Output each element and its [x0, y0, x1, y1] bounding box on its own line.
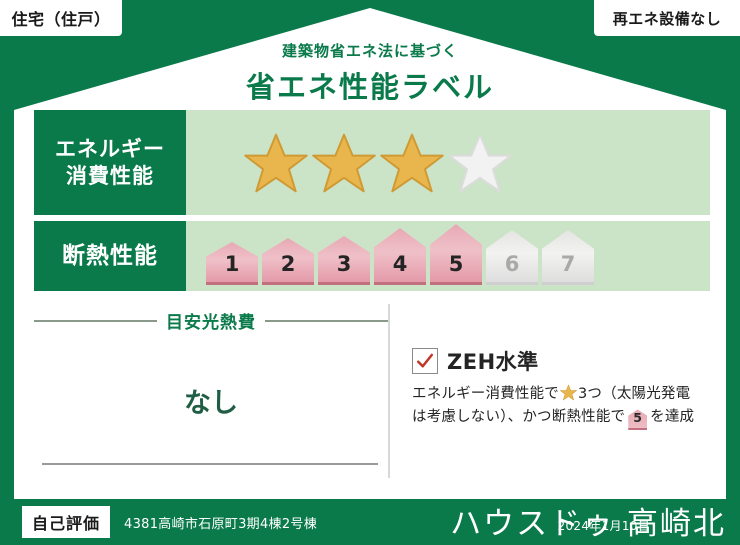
- building-type-label: 住宅（住戸）: [11, 6, 110, 30]
- estimated-utility-cost-panel: 目安光熱費 なし: [34, 300, 388, 490]
- renewable-energy-label: 再エネ設備なし: [613, 8, 722, 29]
- star-icon-empty: [448, 132, 512, 194]
- ratings-section: エネルギー 消費性能 断熱性能 1234567: [34, 110, 710, 297]
- insulation-grade-5: 5: [430, 224, 482, 285]
- energy-performance-row: エネルギー 消費性能: [34, 110, 710, 215]
- star-icon-filled: [244, 132, 308, 194]
- utility-cost-value: なし: [34, 381, 388, 420]
- star-icon-filled: [380, 132, 444, 194]
- insulation-grade-7: 7: [542, 230, 594, 285]
- heading-rule-left: [34, 320, 157, 322]
- property-address: 4381高崎市石原町3期4棟2号棟: [124, 513, 317, 532]
- insulation-grade-1: 1: [206, 242, 258, 285]
- insulation-rating-value: 1234567: [186, 221, 710, 291]
- building-type-badge: 住宅（住戸）: [0, 0, 122, 36]
- zeh-title: ZEH水準: [447, 346, 539, 376]
- zeh-panel: ZEH水準 エネルギー消費性能で 3つ（太陽光発電は考慮しない）、かつ断熱性能で…: [390, 300, 710, 490]
- zeh-desc-part2: は考慮しない）、かつ断熱性能で: [412, 409, 625, 425]
- star-icon: [560, 384, 577, 401]
- inline-grade-badge: 5: [628, 409, 647, 430]
- lower-section: 目安光熱費 なし ZEH水準 エネルギー消費性能で 3つ（太陽光発電は考慮しない…: [34, 300, 710, 490]
- agency-watermark: ハウスドゥ 高崎北: [450, 498, 726, 543]
- zeh-heading: ZEH水準: [412, 346, 710, 376]
- title-subtitle: 建築物省エネ法に基づく: [0, 40, 740, 61]
- zeh-description: エネルギー消費性能で 3つ（太陽光発電は考慮しない）、かつ断熱性能で5を達成: [412, 383, 710, 430]
- insulation-label-text: 断熱性能: [62, 242, 158, 271]
- insulation-grade-strip: 1234567: [206, 224, 594, 291]
- insulation-grade-6: 6: [486, 230, 538, 285]
- energy-star-rating: [186, 110, 710, 215]
- utility-cost-bottom-rule: [42, 463, 378, 465]
- insulation-grade-2: 2: [262, 238, 314, 285]
- insulation-performance-row: 断熱性能 1234567: [34, 221, 710, 291]
- energy-performance-label: エネルギー 消費性能: [34, 110, 186, 215]
- page-title: 建築物省エネ法に基づく 省エネ性能ラベル: [0, 40, 740, 106]
- zeh-desc-part3: を達成: [650, 409, 694, 425]
- renewable-energy-badge: 再エネ設備なし: [594, 0, 740, 36]
- insulation-grade-4: 4: [374, 228, 426, 285]
- insulation-performance-label: 断熱性能: [34, 221, 186, 291]
- utility-cost-heading: 目安光熱費: [34, 300, 388, 333]
- heading-rule-right: [265, 320, 388, 322]
- check-icon: [412, 348, 438, 374]
- self-evaluation-badge: 自己評価: [22, 506, 110, 538]
- energy-label-line2: 消費性能: [66, 163, 154, 189]
- energy-label-line1: エネルギー: [55, 136, 165, 162]
- star-icon-filled: [312, 132, 376, 194]
- zeh-desc-part1: エネルギー消費性能で: [412, 386, 559, 402]
- zeh-desc-stars: 3つ（太陽光発電: [578, 386, 690, 402]
- title-main: 省エネ性能ラベル: [0, 64, 740, 106]
- utility-cost-heading-text: 目安光熱費: [166, 308, 256, 333]
- insulation-grade-3: 3: [318, 236, 370, 285]
